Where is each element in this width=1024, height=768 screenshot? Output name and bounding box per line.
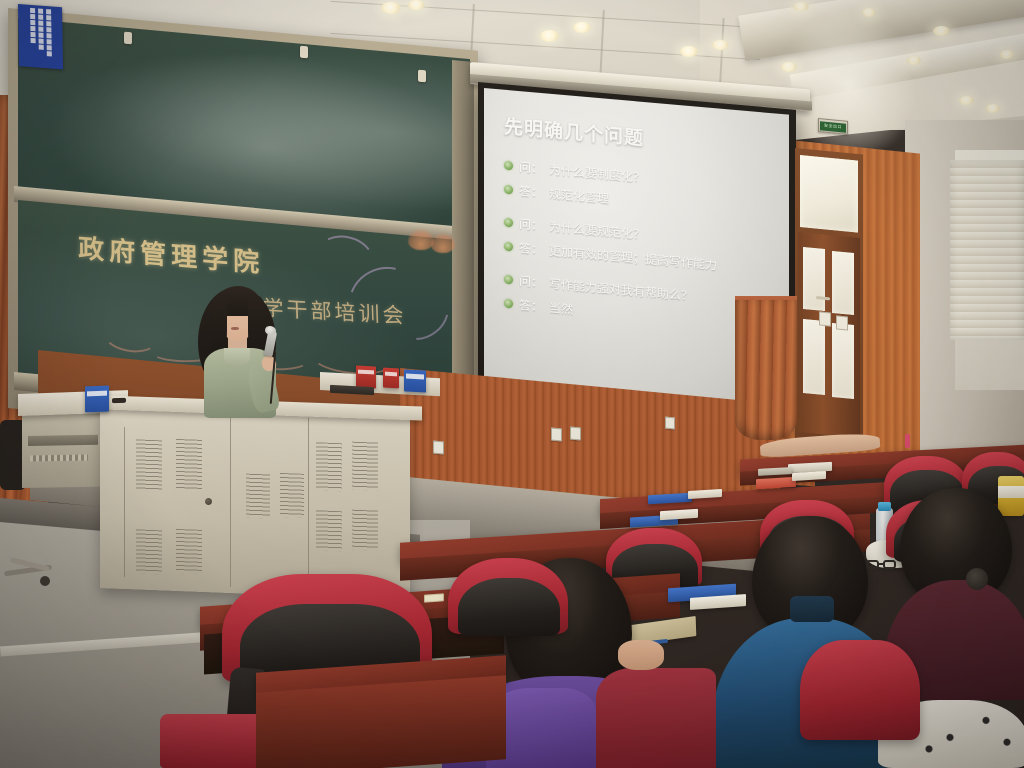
seat-backrest[interactable] bbox=[800, 640, 920, 740]
hair-tie bbox=[966, 568, 988, 590]
red-box[interactable] bbox=[383, 368, 399, 389]
bullet-icon bbox=[504, 161, 513, 171]
slide-group: 问： 写作能力强对我有帮助么？ 答： 当然 bbox=[504, 271, 773, 336]
slide-line-text: 规范化管理 bbox=[549, 185, 609, 207]
slide-line-tag: 问： bbox=[519, 215, 543, 234]
bullet-icon bbox=[504, 185, 513, 195]
blackboard-clip bbox=[300, 46, 308, 59]
slide-line-text: 当然 bbox=[549, 299, 573, 318]
slide-group: 问： 为什么要规范化？ 答： 更加有效的管理；提高写作能力 bbox=[504, 214, 773, 279]
bullet-icon bbox=[504, 275, 513, 285]
lectern-lock[interactable] bbox=[205, 498, 212, 505]
ceiling-downlight bbox=[907, 56, 921, 65]
door-transom-window bbox=[800, 155, 858, 233]
poster-text-column bbox=[29, 8, 36, 65]
seat-cushion-back bbox=[458, 578, 560, 636]
ceiling-downlight bbox=[540, 30, 559, 42]
water-bottle-cap bbox=[878, 502, 891, 511]
ceiling-downlight bbox=[862, 8, 876, 17]
slide-line-tag: 问： bbox=[519, 272, 543, 291]
exit-sign-text: 安全出口 bbox=[824, 123, 842, 131]
door-glass-panel bbox=[803, 247, 825, 311]
slide-line-tag: 答： bbox=[519, 296, 543, 315]
jacket-collar bbox=[790, 596, 834, 622]
side-cabinet-panel bbox=[30, 454, 88, 461]
remote-control[interactable] bbox=[112, 398, 126, 403]
slide-line-tag: 问： bbox=[519, 158, 543, 177]
ceiling-downlight bbox=[680, 46, 698, 57]
blue-notice-poster bbox=[18, 4, 63, 69]
bullet-icon bbox=[504, 242, 513, 252]
lectern-cabinet bbox=[100, 406, 410, 600]
slide-line-text: 为什么要规范化？ bbox=[549, 218, 645, 243]
window-blinds bbox=[950, 160, 1024, 340]
bullet-icon bbox=[504, 218, 513, 228]
ceiling-downlight bbox=[712, 40, 729, 50]
ceiling-downlight bbox=[573, 22, 591, 33]
ceiling-downlight bbox=[986, 104, 1000, 113]
ceiling-downlight bbox=[381, 2, 401, 14]
ceiling-downlight bbox=[408, 0, 425, 10]
speaker-mouth bbox=[231, 327, 239, 330]
office-chair-base bbox=[4, 560, 58, 590]
blue-box[interactable] bbox=[85, 386, 109, 413]
slide-line-tag: 答： bbox=[519, 182, 543, 201]
door-glass-panel bbox=[832, 323, 854, 399]
speaker-collar bbox=[224, 348, 250, 366]
right-curtain bbox=[735, 300, 797, 440]
ceiling-downlight bbox=[959, 96, 974, 105]
ceiling-downlight bbox=[781, 62, 797, 72]
ceiling-downlight bbox=[1000, 50, 1014, 59]
ceiling-downlight bbox=[933, 26, 950, 36]
foreground-desk-front bbox=[256, 675, 506, 768]
poster-text-column bbox=[45, 9, 52, 66]
door-glass-panel bbox=[832, 251, 854, 315]
lecture-hall-photo: 政府管理学院 学干部培训会 先明确几个问题 问： 为什么要制度化？ 答： 规范化… bbox=[0, 0, 1024, 768]
side-cabinet-shelf bbox=[28, 435, 98, 446]
poster-text-column bbox=[37, 8, 44, 65]
ceiling-downlight bbox=[793, 2, 809, 11]
pen[interactable] bbox=[905, 434, 910, 448]
slide-line-tag: 答： bbox=[519, 239, 543, 258]
eyeglasses[interactable] bbox=[866, 560, 898, 569]
blackboard-right-edge bbox=[452, 60, 474, 392]
bullet-icon bbox=[504, 299, 513, 309]
slide-title: 先明确几个问题 bbox=[504, 112, 773, 163]
slide-group: 问： 为什么要制度化？ 答： 规范化管理 bbox=[504, 157, 773, 222]
audience-hand bbox=[618, 640, 664, 670]
side-equipment-cabinet bbox=[22, 411, 106, 488]
blue-box[interactable] bbox=[404, 369, 426, 392]
door-notice-sticker bbox=[819, 311, 831, 326]
wall-outlet[interactable] bbox=[433, 441, 444, 455]
white-booklet[interactable] bbox=[690, 594, 746, 610]
blackboard-clip bbox=[124, 32, 132, 45]
door-notice-sticker bbox=[836, 315, 848, 330]
wall-outlet[interactable] bbox=[551, 428, 562, 442]
speaker-person bbox=[198, 282, 294, 414]
wall-outlet[interactable] bbox=[665, 417, 675, 430]
blackboard-clip bbox=[418, 70, 426, 83]
chalk-flower bbox=[431, 232, 455, 253]
wall-outlet[interactable] bbox=[570, 427, 581, 441]
chair-caster bbox=[40, 576, 50, 586]
chalk-flower bbox=[408, 228, 434, 250]
audience-sweater bbox=[596, 668, 716, 768]
seat-number-tag bbox=[424, 593, 444, 602]
red-box[interactable] bbox=[356, 365, 376, 388]
yellow-cup-label bbox=[998, 486, 1024, 498]
exit-sign: 安全出口 bbox=[818, 118, 848, 135]
door-glass-panel bbox=[803, 319, 825, 395]
slide-line-text: 为什么要制度化？ bbox=[549, 161, 645, 186]
exit-sign-face: 安全出口 bbox=[820, 121, 846, 133]
